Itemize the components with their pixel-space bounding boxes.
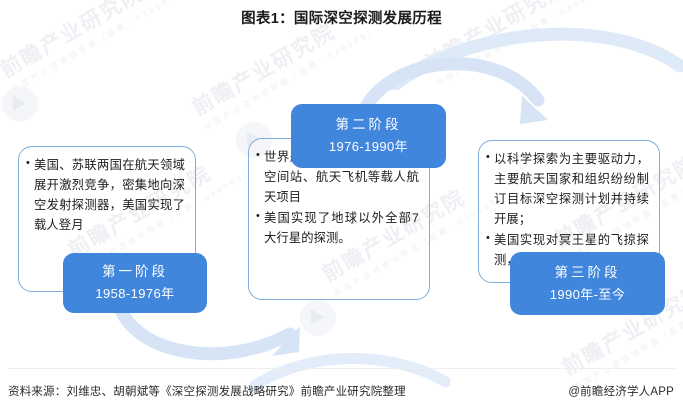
decor-swoosh-top-right <box>380 20 683 90</box>
stage-2-bullet: 美国实现了地球以外全部7大行星的探测。 <box>256 209 419 249</box>
stage-3-badge-period: 1990年-至今 <box>550 285 625 305</box>
stage-3-badge[interactable]: 第三阶段 1990年-至今 <box>510 252 665 315</box>
stage-2-badge-name: 第二阶段 <box>336 115 402 135</box>
watermark-logo-icon <box>2 86 38 122</box>
stage-1-badge-name: 第一阶段 <box>102 262 168 282</box>
chart-canvas: 前瞻产业研究院 中国产业咨询领导者（股票：839599） 前瞻产业研究院 中国产… <box>0 0 683 416</box>
page-title: 图表1：国际深空探测发展历程 <box>0 7 683 28</box>
stage-1-bullet-list: 美国、苏联两国在航天领域展开激烈竞争，密集地向深空发射探测器，美国实现了载人登月 <box>26 156 185 236</box>
stage-3-badge-name: 第三阶段 <box>555 263 621 283</box>
app-credit: @前瞻经济学人APP <box>568 383 674 399</box>
stage-2-badge-period: 1976-1990年 <box>329 137 408 157</box>
stage-1-badge[interactable]: 第一阶段 1958-1976年 <box>63 253 207 313</box>
stage-1-bullet: 美国、苏联两国在航天领域展开激烈竞争，密集地向深空发射探测器，美国实现了载人登月 <box>26 156 185 236</box>
stage-2-badge[interactable]: 第二阶段 1976-1990年 <box>291 104 446 168</box>
stage-3-bullet: 以科学探索为主要驱动力，主要航天国家和组织纷纷制订目标深空探测计划并持续开展； <box>486 150 649 230</box>
watermark-logo-icon <box>300 300 336 336</box>
stage-1-badge-period: 1958-1976年 <box>95 284 174 304</box>
source-note: 资料来源：刘维忠、胡朝斌等《深空探测发展战略研究》前瞻产业研究院整理 <box>8 383 406 399</box>
footer-divider <box>8 368 675 369</box>
